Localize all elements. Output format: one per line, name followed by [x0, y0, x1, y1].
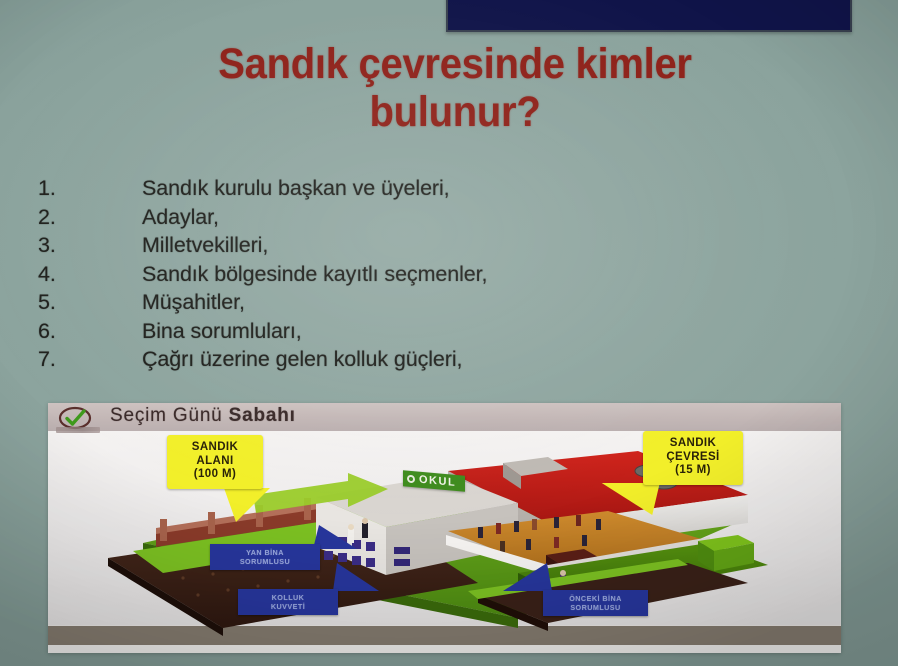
callout-line-2: SORUMLUSU — [549, 603, 642, 612]
list-item: 6. Bina sorumluları, — [38, 319, 658, 348]
list-item-label: Bina sorumluları, — [142, 319, 302, 344]
list-item-number: 3. — [38, 233, 142, 258]
diagram-header-title-bold: Sabahı — [229, 405, 296, 426]
list-item-label: Müşahitler, — [142, 290, 245, 315]
callout-line-2: ALANI — [176, 455, 254, 469]
list-item-number: 1. — [38, 176, 142, 201]
diagram-panel: Seçim Günü Sabahı OKUL SANDIK ALANI (100… — [48, 403, 841, 653]
callout-tail-kolluk — [333, 563, 379, 591]
list-item-number: 2. — [38, 205, 142, 230]
list-item-label: Milletvekilleri, — [142, 233, 268, 258]
callout-line-2: ÇEVRESİ — [652, 451, 734, 465]
callout-yan-bina-sorumlusu: YAN BİNA SORUMLUSU — [210, 544, 320, 570]
top-navy-banner — [446, 0, 852, 32]
callout-line-1: SANDIK — [176, 441, 254, 455]
callout-line-1: KOLLUK — [244, 593, 332, 602]
numbered-list: 1. Sandık kurulu başkan ve üyeleri, 2. A… — [38, 176, 658, 376]
callout-tail-onceki-bina — [503, 563, 552, 591]
list-item: 5. Müşahitler, — [38, 290, 658, 319]
presentation-slide: Sandık çevresinde kimler bulunur? 1. San… — [0, 0, 898, 666]
callout-tail-sandik-alani — [224, 488, 270, 522]
diagram-header-title-normal: Seçim Günü — [110, 405, 229, 426]
list-item: 3. Milletvekilleri, — [38, 233, 658, 262]
list-item-label: Sandık kurulu başkan ve üyeleri, — [142, 176, 450, 201]
list-item-number: 6. — [38, 319, 142, 344]
callout-line-2: KUVVETİ — [244, 602, 332, 611]
callout-sandik-alani: SANDIK ALANI (100 M) — [167, 435, 263, 489]
callout-kolluk-kuvveti: KOLLUK KUVVETİ — [238, 589, 338, 615]
callout-onceki-bina-sorumlusu: ÖNCEKİ BİNA SORUMLUSU — [543, 590, 648, 616]
callout-line-1: ÖNCEKİ BİNA — [549, 594, 642, 603]
list-item-label: Çağrı üzerine gelen kolluk güçleri, — [142, 347, 462, 372]
diagram-header-title: Seçim Günü Sabahı — [110, 405, 296, 427]
okul-sign-label: OKUL — [419, 474, 456, 489]
list-item: 4. Sandık bölgesinde kayıtlı seçmenler, — [38, 262, 658, 291]
list-item-number: 4. — [38, 262, 142, 287]
page-title: Sandık çevresinde kimler bulunur? — [88, 40, 823, 136]
list-item: 2. Adaylar, — [38, 205, 658, 234]
callout-line-2: SORUMLUSU — [216, 557, 314, 566]
callout-line-1: SANDIK — [652, 437, 734, 451]
list-item: 1. Sandık kurulu başkan ve üyeleri, — [38, 176, 658, 205]
callout-sandik-cevresi: SANDIK ÇEVRESİ (15 M) — [643, 431, 743, 485]
list-item: 7. Çağrı üzerine gelen kolluk güçleri, — [38, 347, 658, 376]
list-item-number: 7. — [38, 347, 142, 372]
title-line-2: bulunur? — [88, 88, 823, 136]
diagram-footer-edge — [48, 645, 841, 653]
list-item-label: Sandık bölgesinde kayıtlı seçmenler, — [142, 262, 487, 287]
logo-subtext — [56, 427, 100, 433]
callout-tail-sandik-cevresi — [602, 483, 664, 515]
title-line-1: Sandık çevresinde kimler — [88, 40, 823, 88]
callout-line-3: (15 M) — [652, 464, 734, 478]
okul-sign-dot-icon — [407, 475, 415, 484]
callout-line-1: YAN BİNA — [216, 548, 314, 557]
list-item-label: Adaylar, — [142, 205, 219, 230]
callout-line-3: (100 M) — [176, 468, 254, 482]
list-item-number: 5. — [38, 290, 142, 315]
